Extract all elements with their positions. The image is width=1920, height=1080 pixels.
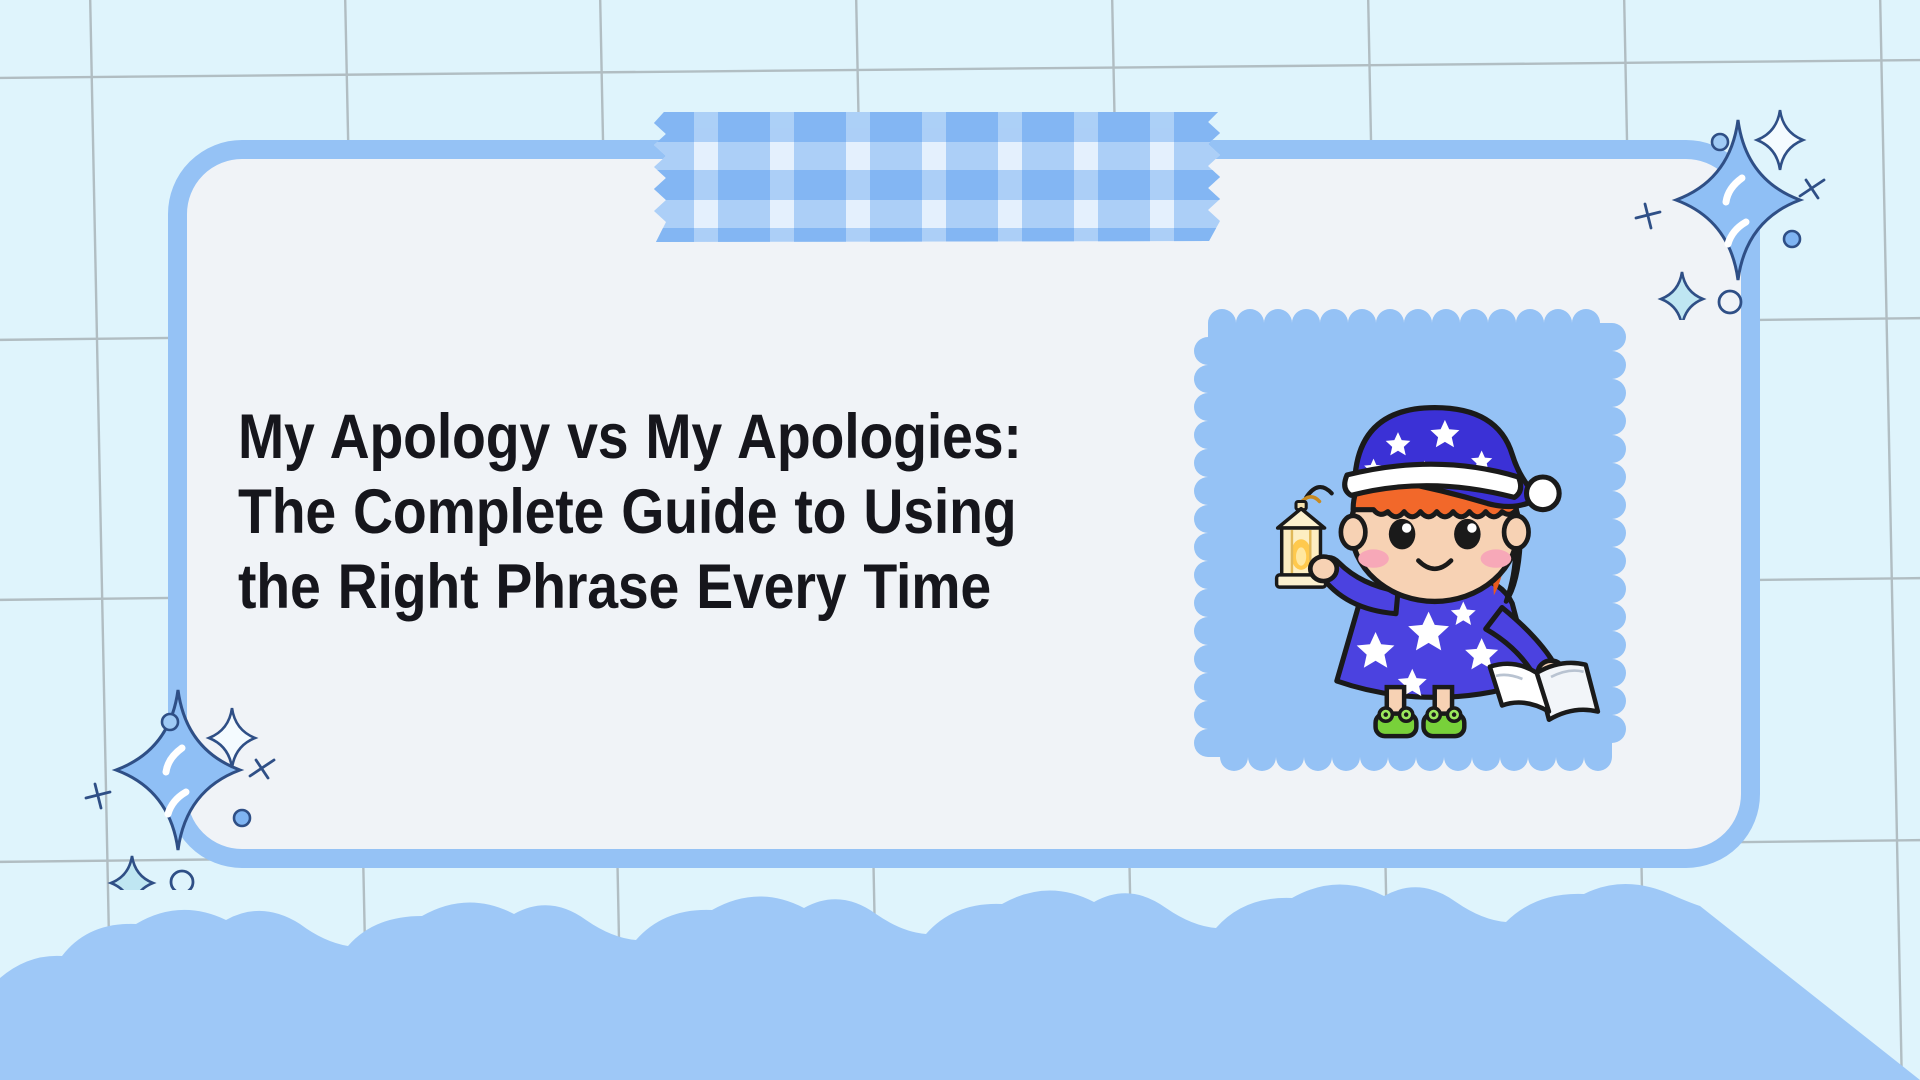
frog-slipper-right	[1424, 708, 1465, 736]
circle-filled	[1784, 231, 1800, 247]
circle-outline	[171, 871, 193, 890]
plus-mark	[1636, 204, 1660, 228]
cover-graphic: My Apology vs My Apologies: The Complete…	[0, 0, 1920, 1080]
big-four-point-star	[116, 690, 240, 850]
plus-mark	[250, 760, 274, 778]
washi-tape	[632, 108, 1240, 246]
illustration-panel	[1190, 305, 1650, 775]
sparkles-bottom-left	[60, 670, 320, 890]
circle-outline	[1719, 291, 1741, 313]
circle-filled	[1712, 134, 1728, 150]
plus-mark	[86, 784, 110, 808]
plus-mark	[1800, 180, 1824, 198]
sparkles-top-right	[1620, 100, 1880, 320]
small-four-point-star	[1757, 110, 1803, 170]
page-title: My Apology vs My Apologies: The Complete…	[238, 400, 1083, 625]
outline-four-point-star	[1661, 272, 1703, 320]
outline-four-point-star	[111, 856, 153, 890]
circle-filled	[234, 810, 250, 826]
title-block: My Apology vs My Apologies: The Complete…	[238, 400, 1198, 625]
frog-slipper-left	[1376, 708, 1417, 736]
circle-filled	[162, 714, 178, 730]
